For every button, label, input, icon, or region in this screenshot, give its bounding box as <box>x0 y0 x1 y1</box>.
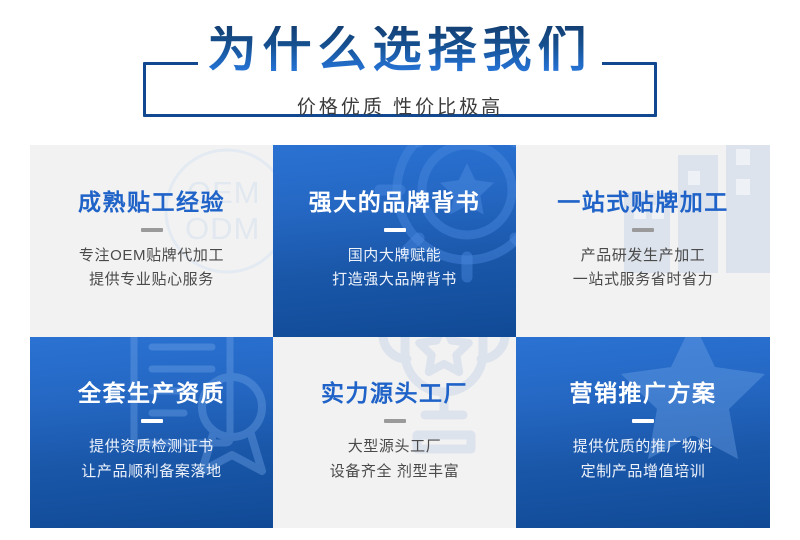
title-divider <box>384 419 406 423</box>
feature-desc-line-1: 大型源头工厂 <box>330 435 460 459</box>
feature-description: 大型源头工厂 设备齐全 剂型丰富 <box>330 435 460 484</box>
feature-description: 专注OEM贴牌代加工 提供专业贴心服务 <box>79 244 224 293</box>
feature-grid: OEM ODM 成熟贴工经验 专注OEM贴牌代加工 提供专业贴心服务 <box>30 145 770 528</box>
feature-description: 提供优质的推广物料 定制产品增值培训 <box>573 435 713 484</box>
feature-title: 全套生产资质 <box>78 381 225 406</box>
feature-desc-line-1: 专注OEM贴牌代加工 <box>79 244 224 268</box>
title-divider <box>141 228 163 232</box>
feature-title: 营销推广方案 <box>570 381 717 406</box>
feature-cell-experience[interactable]: OEM ODM 成熟贴工经验 专注OEM贴牌代加工 提供专业贴心服务 <box>30 145 273 337</box>
feature-title: 成熟贴工经验 <box>78 190 225 215</box>
feature-description: 产品研发生产加工 一站式服务省时省力 <box>573 244 713 293</box>
feature-cell-qualifications[interactable]: 全套生产资质 提供资质检测证书 让产品顺利备案落地 <box>30 337 273 528</box>
feature-cell-one-stop-oem[interactable]: 一站式贴牌加工 产品研发生产加工 一站式服务省时省力 <box>516 145 770 337</box>
title-divider <box>632 228 654 232</box>
header-section: 为什么选择我们 价格优质 性价比极高 <box>0 0 800 140</box>
feature-description: 提供资质检测证书 让产品顺利备案落地 <box>81 435 221 484</box>
title-divider <box>141 419 163 423</box>
feature-desc-line-1: 提供优质的推广物料 <box>573 435 713 459</box>
feature-desc-line-2: 一站式服务省时省力 <box>573 268 713 292</box>
title-divider <box>384 228 406 232</box>
feature-description: 国内大牌赋能 打造强大品牌背书 <box>332 244 457 293</box>
feature-desc-line-1: 国内大牌赋能 <box>332 244 457 268</box>
feature-title: 一站式贴牌加工 <box>557 190 729 215</box>
feature-desc-line-2: 设备齐全 剂型丰富 <box>330 460 460 484</box>
feature-desc-line-2: 打造强大品牌背书 <box>332 268 457 292</box>
feature-desc-line-2: 提供专业贴心服务 <box>79 268 224 292</box>
feature-desc-line-1: 提供资质检测证书 <box>81 435 221 459</box>
feature-title: 实力源头工厂 <box>321 381 468 406</box>
svg-text:ODM: ODM <box>185 211 260 246</box>
feature-title: 强大的品牌背书 <box>309 190 481 215</box>
feature-cell-marketing-plan[interactable]: 营销推广方案 提供优质的推广物料 定制产品增值培训 <box>516 337 770 528</box>
page-title: 为什么选择我们 <box>0 26 800 75</box>
title-divider <box>632 419 654 423</box>
feature-desc-line-1: 产品研发生产加工 <box>573 244 713 268</box>
promo-banner: 为什么选择我们 价格优质 性价比极高 OEM ODM 成熟贴工经验 专注OEM贴… <box>0 0 800 540</box>
feature-cell-brand-endorsement[interactable]: 强大的品牌背书 国内大牌赋能 打造强大品牌背书 <box>273 145 516 337</box>
feature-cell-source-factory[interactable]: 实力源头工厂 大型源头工厂 设备齐全 剂型丰富 <box>273 337 516 528</box>
page-subtitle: 价格优质 性价比极高 <box>0 92 800 119</box>
feature-desc-line-2: 定制产品增值培训 <box>573 460 713 484</box>
feature-desc-line-2: 让产品顺利备案落地 <box>81 460 221 484</box>
